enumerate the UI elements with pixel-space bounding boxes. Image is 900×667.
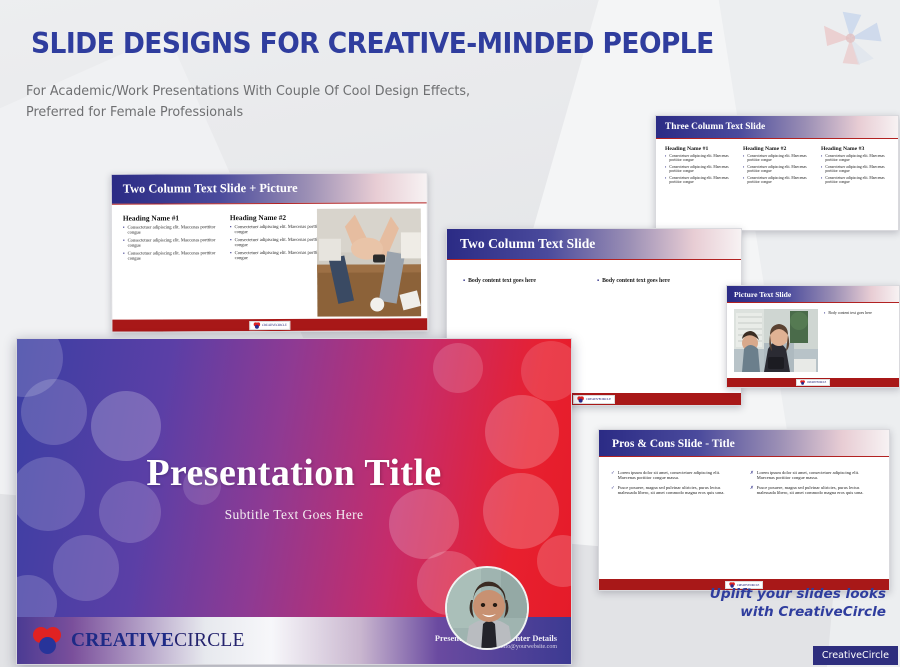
bullet-item: ▪Body content text goes here <box>463 278 597 285</box>
page-title: SLIDE DESIGNS FOR CREATIVE-MINDED PEOPLE <box>31 27 765 60</box>
cross-icon: ✗ <box>750 470 754 481</box>
logo-circles-icon <box>253 322 260 329</box>
bullet-text: Consectetuer adipiscing elit. Maecenas p… <box>669 176 735 185</box>
logo-circles-icon <box>577 396 584 403</box>
slide-thumb-two-column-picture[interactable]: Two Column Text Slide + Picture Heading … <box>111 172 429 332</box>
headline-text: SLIDE DESIGNS FOR CREATIVE-MINDED PEOPLE <box>31 27 714 60</box>
bullet-dot-icon: ▪ <box>463 278 465 285</box>
bullet-dot-icon: ▪ <box>665 176 666 185</box>
slide-header: Picture Text Slide <box>727 286 899 303</box>
bullet-text: Body content text goes here <box>828 311 871 316</box>
slide-body: Heading Name #1 ▪Consectetuer adipiscing… <box>656 139 898 231</box>
slide-title: Three Column Text Slide <box>665 122 765 132</box>
bullet-dot-icon: ▪ <box>665 154 666 163</box>
bullet-text: Consectetuer adipiscing elit. Maecenas p… <box>747 154 813 163</box>
bullet-dot-icon: ▪ <box>743 154 744 163</box>
text-column: Heading Name #2 ▪Consectetuer adipiscing… <box>230 213 327 332</box>
slide-body: ✓Lorem ipsum dolor sit amet, consectetue… <box>599 457 889 591</box>
bullet-text: Consectetuer adipiscing elit. Maecenas p… <box>669 165 735 174</box>
slide-header: Pros & Cons Slide - Title <box>599 430 889 457</box>
bullet-text: Consectetuer adipiscing elit. Maecenas p… <box>235 249 326 260</box>
bullet-text: Consectetuer adipiscing elit. Maecenas p… <box>128 224 219 235</box>
brand-name-bold: CREATIVE <box>71 630 174 651</box>
slide-photo-woman-interview <box>734 309 818 372</box>
tagline: Uplift your slides looks with CreativeCi… <box>710 586 886 621</box>
text-column: Heading Name #2 ▪Consectetuer adipiscing… <box>743 146 813 231</box>
brand-logo-text: CREATIVECIRCLE <box>71 630 245 652</box>
subtitle-line-1: For Academic/Work Presentations With Cou… <box>26 82 470 103</box>
hero-subtitle: Subtitle Text Goes Here <box>17 507 571 523</box>
page-subtitle: For Academic/Work Presentations With Cou… <box>26 82 470 124</box>
decorative-circle <box>21 379 87 445</box>
slide-title: Two Column Text Slide + Picture <box>123 181 298 197</box>
decorative-circle <box>537 535 571 587</box>
check-icon: ✓ <box>611 485 615 496</box>
footer-logo: CREATIVECIRCLE <box>796 379 830 386</box>
hero-title-slide[interactable]: Presentation Title Subtitle Text Goes He… <box>16 338 572 665</box>
decorative-circle <box>389 489 459 559</box>
column-heading: Heading Name #1 <box>665 146 735 152</box>
bullet-text: Body content text goes here <box>602 278 670 285</box>
slide-title: Picture Text Slide <box>734 290 791 299</box>
bullet-text: Consectetuer adipiscing elit. Maecenas p… <box>235 224 326 235</box>
bullet-text: Fusce posuere, magna sed pulvinar ultric… <box>757 485 875 496</box>
bullet-item: ▪Consectetuer adipiscing elit. Maecenas … <box>230 249 326 260</box>
bullet-item: ▪Consectetuer adipiscing elit. Maecenas … <box>123 237 219 248</box>
column-heading: Heading Name #1 <box>123 213 219 222</box>
hero-title: Presentation Title <box>17 451 571 495</box>
bullet-item: ▪Consectetuer adipiscing elit. Maecenas … <box>230 237 326 248</box>
bullet-dot-icon: ▪ <box>123 225 125 236</box>
slide-title: Two Column Text Slide <box>460 236 595 252</box>
subtitle-line-2: Preferred for Female Professionals <box>26 103 470 124</box>
slide-thumb-picture-text[interactable]: Picture Text Slide <box>726 285 900 388</box>
bullet-item: ▪Consectetuer adipiscing elit. Maecenas … <box>821 154 891 163</box>
slide-thumb-three-column[interactable]: Three Column Text Slide Heading Name #1 … <box>655 115 899 231</box>
bullet-item: ▪Consectetuer adipiscing elit. Maecenas … <box>665 165 735 174</box>
column-heading: Heading Name #3 <box>821 146 891 152</box>
bullet-dot-icon: ▪ <box>821 165 822 174</box>
text-column: Heading Name #3 ▪Consectetuer adipiscing… <box>821 146 891 231</box>
bullet-text: Consectetuer adipiscing elit. Maecenas p… <box>825 165 891 174</box>
bullet-item: ▪Consectetuer adipiscing elit. Maecenas … <box>743 176 813 185</box>
tagline-line-2: with CreativeCircle <box>710 604 886 621</box>
bullet-text: Lorem ipsum dolor sit amet, consectetuer… <box>618 470 736 481</box>
logo-circles-icon <box>800 380 805 385</box>
bullet-item: ▪Consectetuer adipiscing elit. Maecenas … <box>665 154 735 163</box>
footer-logo: CREATIVECIRCLE <box>249 320 291 329</box>
bullet-dot-icon: ▪ <box>743 165 744 174</box>
bullet-text: Lorem ipsum dolor sit amet, consectetuer… <box>757 470 875 481</box>
bullet-item: ✓Fusce posuere, magna sed pulvinar ultri… <box>611 485 736 496</box>
bullet-item: ▪Body content text goes here <box>597 278 731 285</box>
logo-circles-icon <box>33 626 63 656</box>
slide-thumb-pros-cons[interactable]: Pros & Cons Slide - Title ✓Lorem ipsum d… <box>598 429 890 591</box>
text-column: ▪Body content text goes here <box>824 309 872 388</box>
bullet-dot-icon: ▪ <box>123 237 125 248</box>
bullet-text: Consectetuer adipiscing elit. Maecenas p… <box>128 250 219 261</box>
footer-logo: CREATIVECIRCLE <box>573 395 615 404</box>
presenter-avatar <box>445 566 529 650</box>
bullet-dot-icon: ▪ <box>665 165 666 174</box>
brand-name-light: CIRCLE <box>174 630 245 651</box>
decorative-circle <box>53 535 119 601</box>
pinwheel-icon <box>810 4 894 74</box>
bullet-dot-icon: ▪ <box>230 224 232 235</box>
footer-logo-text: CREATIVECIRCLE <box>262 323 287 327</box>
slide-title: Pros & Cons Slide - Title <box>612 437 735 450</box>
slide-body: Heading Name #1 ▪Consectetuer adipiscing… <box>112 203 428 332</box>
bullet-text: Consectetuer adipiscing elit. Maecenas p… <box>128 237 219 248</box>
check-icon: ✓ <box>611 470 615 481</box>
bullet-dot-icon: ▪ <box>597 278 599 285</box>
tagline-line-1: Uplift your slides looks <box>710 586 886 603</box>
bullet-text: Consectetuer adipiscing elit. Maecenas p… <box>235 237 326 248</box>
bullet-dot-icon: ▪ <box>123 250 125 261</box>
bullet-item: ▪Consectetuer adipiscing elit. Maecenas … <box>123 224 219 235</box>
bullet-text: Consectetuer adipiscing elit. Maecenas p… <box>747 165 813 174</box>
column-heading: Heading Name #2 <box>230 213 326 222</box>
bullet-dot-icon: ▪ <box>743 176 744 185</box>
bullet-item: ▪Consectetuer adipiscing elit. Maecenas … <box>743 154 813 163</box>
bullet-text: Consectetuer adipiscing elit. Maecenas p… <box>825 154 891 163</box>
bullet-item: ▪Consectetuer adipiscing elit. Maecenas … <box>230 224 326 235</box>
bullet-dot-icon: ▪ <box>821 154 822 163</box>
bullet-dot-icon: ▪ <box>230 237 232 248</box>
creativecircle-badge[interactable]: CreativeCircle <box>813 646 898 665</box>
bullet-text: Body content text goes here <box>468 278 536 285</box>
slide-footer: CREATIVECIRCLE <box>727 378 899 387</box>
bullet-item: ▪Consectetuer adipiscing elit. Maecenas … <box>821 176 891 185</box>
column-heading: Heading Name #2 <box>743 146 813 152</box>
decorative-circle <box>433 343 483 393</box>
bullet-item: ✗Fusce posuere, magna sed pulvinar ultri… <box>750 485 875 496</box>
bullet-item: ▪Consectetuer adipiscing elit. Maecenas … <box>123 250 219 261</box>
slide-header: Two Column Text Slide + Picture <box>112 173 427 204</box>
bullet-item: ✗Lorem ipsum dolor sit amet, consectetue… <box>750 470 875 481</box>
cross-icon: ✗ <box>750 485 754 496</box>
pros-column: ✓Lorem ipsum dolor sit amet, consectetue… <box>611 466 736 591</box>
brand-logo[interactable]: CREATIVECIRCLE <box>33 626 245 656</box>
bullet-text: Fusce posuere, magna sed pulvinar ultric… <box>618 485 736 496</box>
bullet-item: ▪Consectetuer adipiscing elit. Maecenas … <box>743 165 813 174</box>
bullet-dot-icon: ▪ <box>821 176 822 185</box>
bullet-item: ▪Consectetuer adipiscing elit. Maecenas … <box>665 176 735 185</box>
bullet-item: ✓Lorem ipsum dolor sit amet, consectetue… <box>611 470 736 481</box>
bullet-item: ▪Consectetuer adipiscing elit. Maecenas … <box>821 165 891 174</box>
decorative-circle <box>521 341 571 401</box>
bullet-dot-icon: ▪ <box>230 250 232 261</box>
slide-header: Two Column Text Slide <box>447 229 741 260</box>
slide-photo-teamwork <box>317 208 421 316</box>
bullet-dot-icon: ▪ <box>824 311 825 316</box>
text-column: Heading Name #1 ▪Consectetuer adipiscing… <box>665 146 735 231</box>
slide-header: Three Column Text Slide <box>656 116 898 139</box>
cons-column: ✗Lorem ipsum dolor sit amet, consectetue… <box>750 466 875 591</box>
bullet-text: Consectetuer adipiscing elit. Maecenas p… <box>747 176 813 185</box>
slide-body: ▪Body content text goes here <box>727 303 899 388</box>
text-column: ▪Body content text goes here <box>597 276 731 406</box>
footer-logo-text: CREATIVECIRCLE <box>807 381 826 384</box>
bullet-item: ▪Body content text goes here <box>824 311 872 316</box>
slide-footer: CREATIVECIRCLE <box>112 318 427 331</box>
decorative-circle <box>17 575 57 619</box>
footer-logo-text: CREATIVECIRCLE <box>586 397 611 401</box>
bullet-text: Consectetuer adipiscing elit. Maecenas p… <box>825 176 891 185</box>
bullet-text: Consectetuer adipiscing elit. Maecenas p… <box>669 154 735 163</box>
text-column: Heading Name #1 ▪Consectetuer adipiscing… <box>123 213 220 332</box>
